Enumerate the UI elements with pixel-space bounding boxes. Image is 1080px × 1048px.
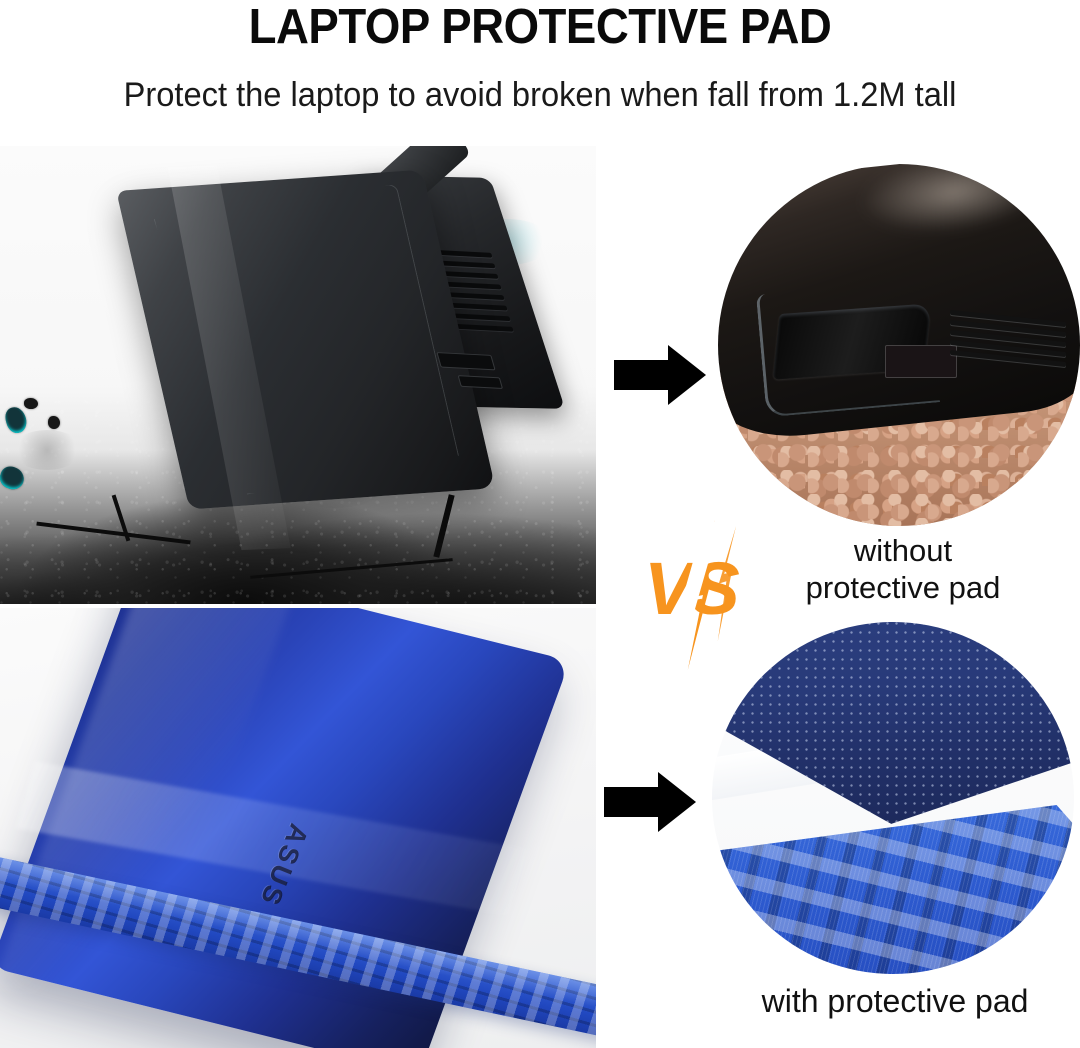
laptop-port: [458, 375, 504, 389]
debris-fragment: [24, 398, 38, 409]
debris-fragment: [48, 416, 60, 429]
pad-quilted-surface: [712, 805, 1074, 974]
vent-grill: [950, 310, 1066, 416]
image-damaged-laptop-corner: [718, 164, 1080, 526]
image-laptop-on-protective-pad: ASUS: [0, 608, 596, 1048]
caption-with-protective-pad: with protective pad: [720, 982, 1070, 1020]
highlight-glint: [860, 164, 1048, 241]
product-infographic: LAPTOP PROTECTIVE PAD Protect the laptop…: [0, 0, 1080, 1048]
image-protective-pad-closeup: [712, 622, 1074, 974]
caption-without-protective-pad: without protective pad: [748, 532, 1058, 606]
dust-cloud: [12, 430, 82, 470]
page-subtitle: Protect the laptop to avoid broken when …: [22, 74, 1059, 116]
laptop-port: [436, 352, 495, 370]
image-laptop-crash: [0, 146, 596, 604]
page-title: LAPTOP PROTECTIVE PAD: [38, 0, 1042, 56]
laptop-port: [885, 345, 957, 378]
